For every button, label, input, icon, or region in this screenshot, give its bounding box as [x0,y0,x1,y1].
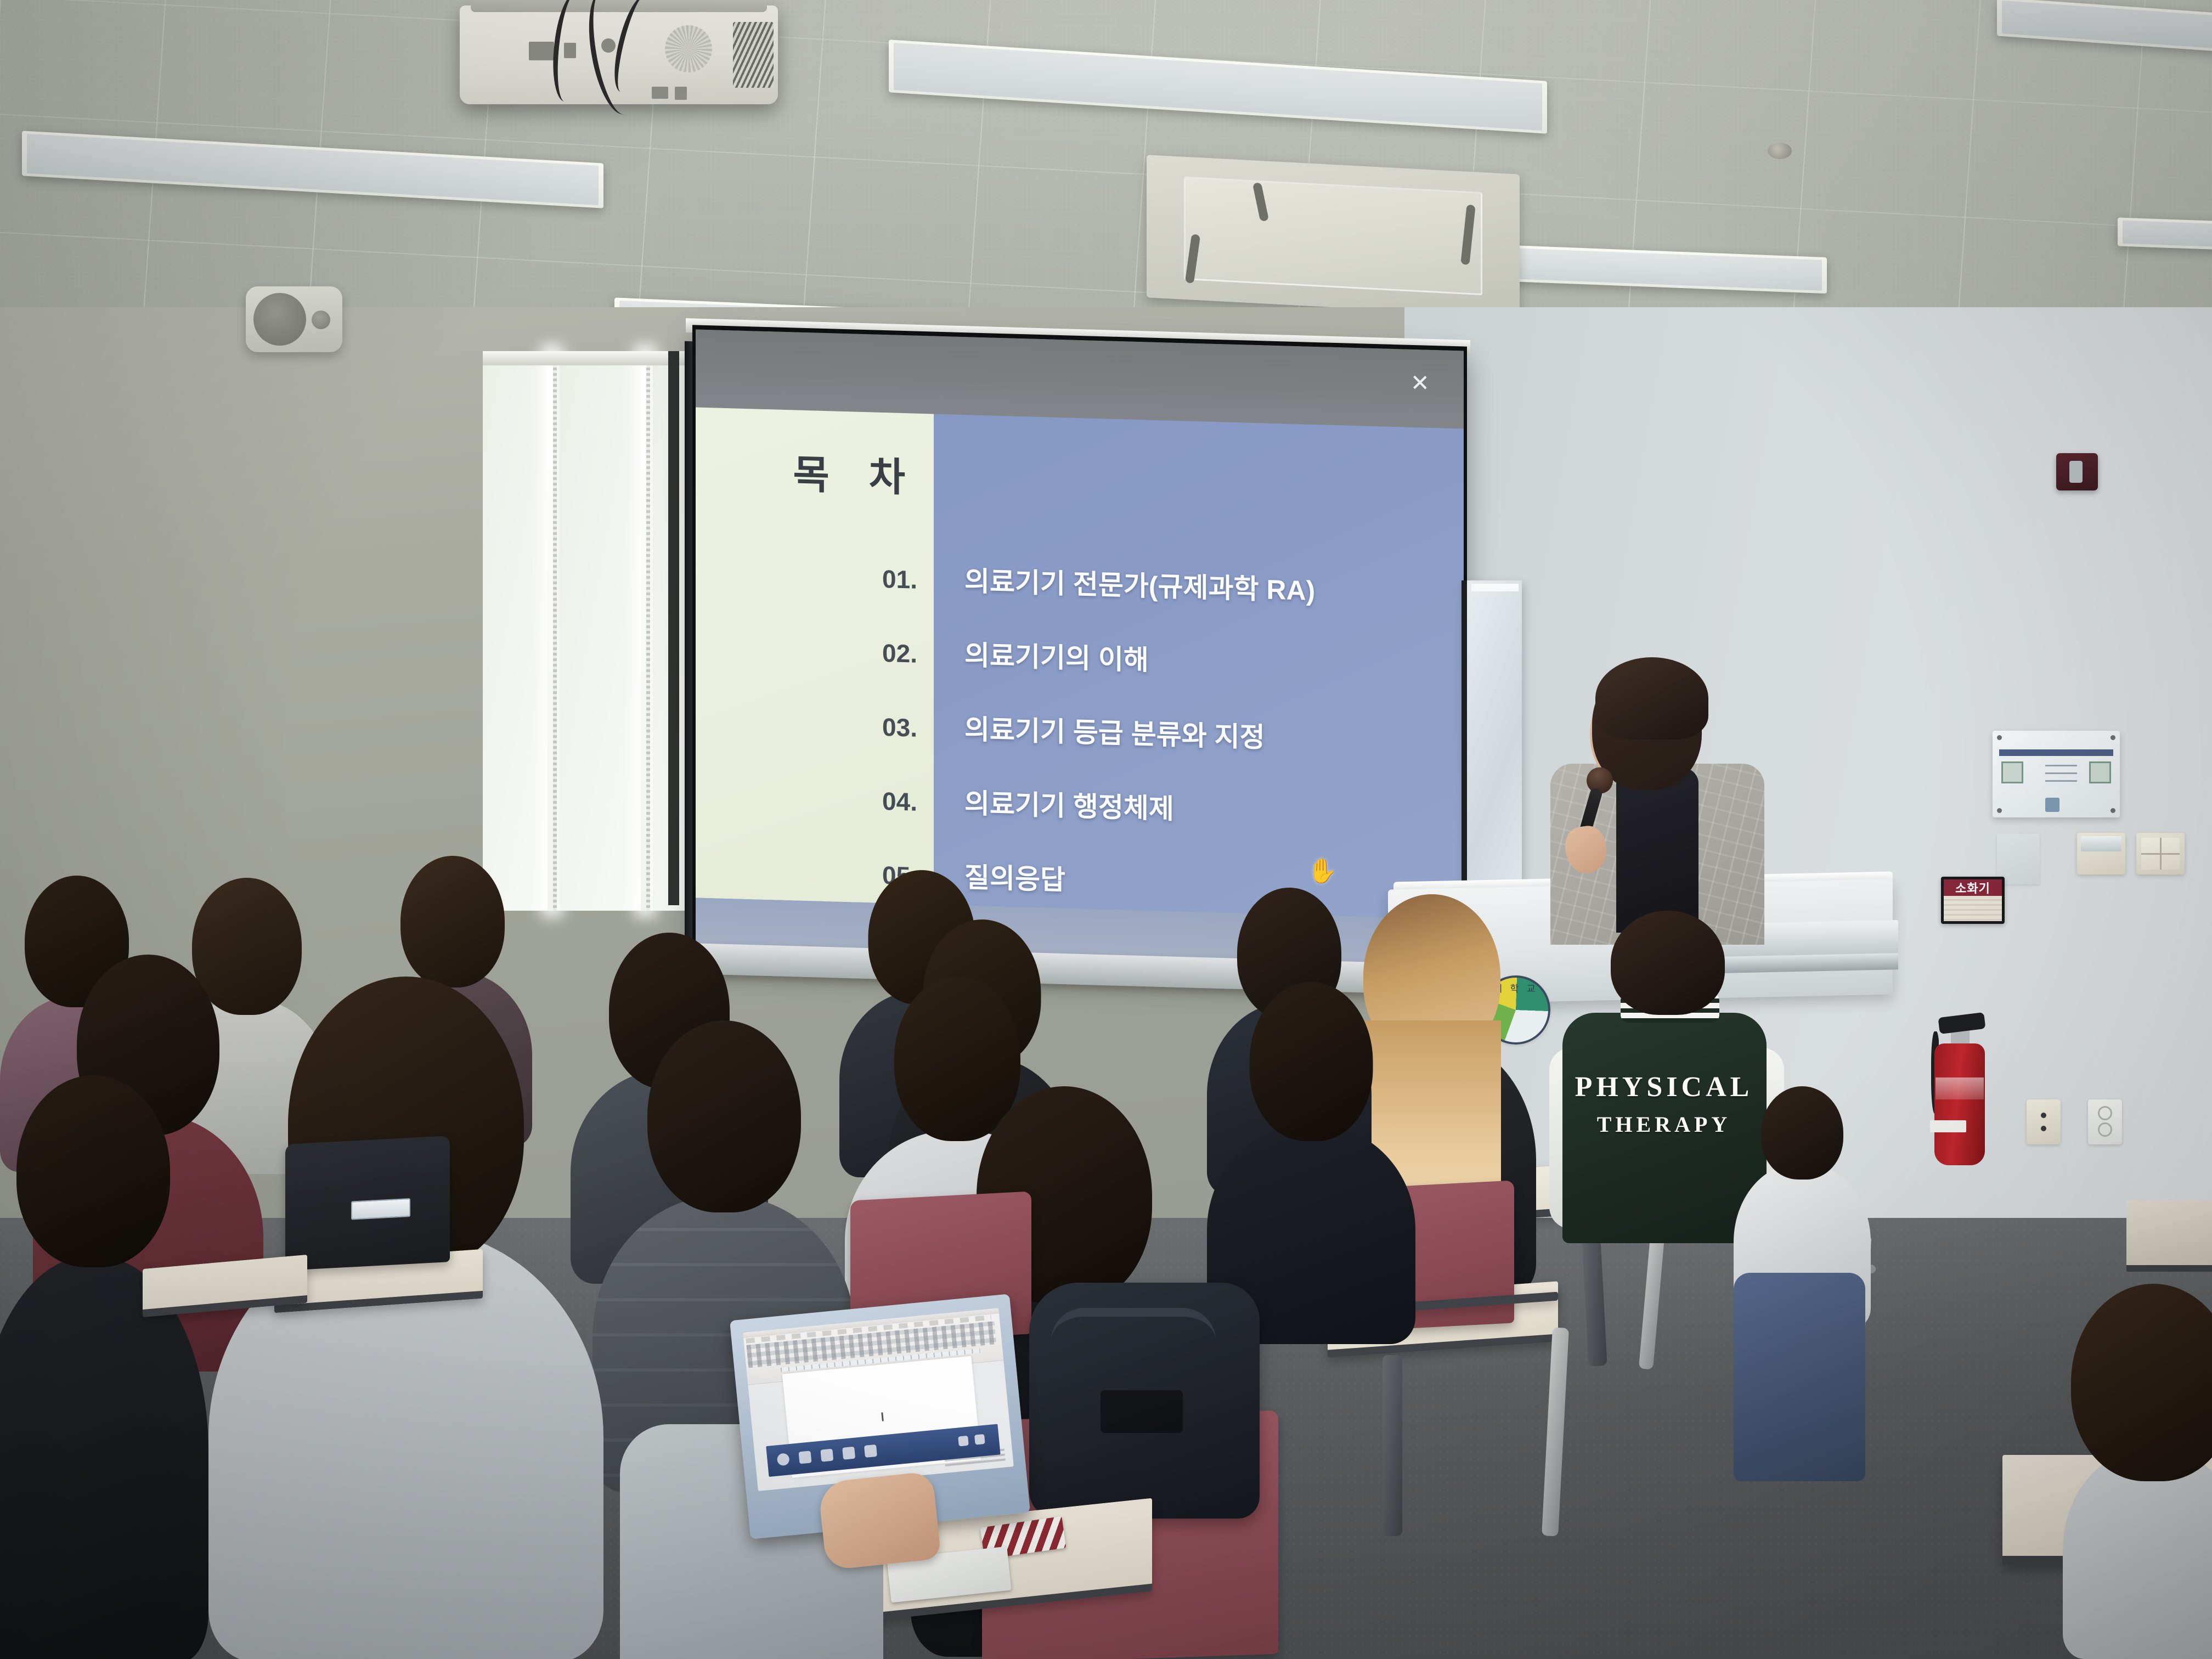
backpack [1029,1283,1260,1519]
slide-item-number: 01. [819,540,917,617]
slide-sidebar: 목 차 01. 02. 03. 04. 05. [696,407,934,904]
ac-diffuser [1147,155,1520,317]
blind-chain [646,351,650,911]
student-right-edge [2063,1284,2212,1659]
wall-outlet[interactable] [2088,1099,2122,1144]
roller-blind [560,351,642,911]
student-torso [0,1256,208,1659]
extinguisher-label [1936,1077,1984,1099]
slide-content: 목 차 01. 02. 03. 04. 05. 의료기기 전문가(규제과학 RA… [696,407,1464,919]
slide-item-number: 04. [819,763,917,839]
placard-header-bar [1999,749,2113,756]
backpack-pocket [1101,1390,1183,1433]
student-jeans [1734,1273,1865,1481]
whiteboard [1462,580,1522,910]
slide-item-number: 02. [819,614,917,691]
blind-chain [553,351,557,911]
student [0,1075,208,1659]
extinguisher-body [1934,1043,1985,1165]
backpack-strap [1051,1308,1216,1374]
taskbar-icon[interactable] [864,1444,877,1458]
instruction-placard [1993,731,2120,817]
presenter-hair [1595,657,1708,740]
slide-agenda-item: 의료기기 행정체제 [934,766,1464,855]
placard-footer-icon [2045,798,2059,812]
student-jeans-legs [1734,1273,1865,1481]
projection-screen-surface: ✕ 목 차 01. 02. 03. 04. 05. 의료기기 전문가(규제과학 … [696,329,1464,979]
projector-port [675,87,687,100]
presenter-shirt [1616,768,1699,933]
placard-text-line [2045,780,2077,782]
thermostat-panel[interactable] [2077,833,2125,874]
placard-text-line [2045,772,2077,774]
student-hair [1611,911,1725,1015]
extinguisher-tag [1930,1120,1966,1132]
fire-extinguisher-sign-label: 소화기 [1944,879,2002,896]
slide-agenda-item: 의료기기의 이해 [934,618,1464,707]
placard-diagram-right [2089,761,2111,783]
lecture-chair [285,1136,450,1271]
roller-blind [483,351,549,911]
taskbar-icon[interactable] [842,1447,855,1460]
system-tray-icon[interactable] [958,1436,969,1447]
fire-alarm-box[interactable] [2056,453,2098,490]
outlet-hole [2041,1113,2046,1118]
student-head [1250,982,1373,1141]
tablet-arm-desk [2126,1200,2212,1272]
outlet-socket [2098,1106,2112,1120]
laptop-screen[interactable] [743,1308,1014,1491]
placard-screw [1997,808,2002,813]
taskbar-icon[interactable] [777,1453,790,1466]
student-head [16,1075,170,1267]
extinguisher-handle [1938,1012,1985,1034]
placard-screw [1997,735,2002,740]
projector-port [529,42,554,60]
outlet-hole [2041,1126,2046,1131]
light-switch-panel[interactable] [2136,833,2185,874]
outlet-socket [2098,1122,2112,1137]
projector-port [652,87,668,99]
ceiling-light-6 [2118,218,2212,250]
chair-label [351,1198,410,1220]
projector-fan-icon [665,25,712,72]
placard-screw [2111,735,2115,740]
ac-diffuser-inner [1184,177,1482,295]
slide-title: 목 차 [793,442,919,503]
student-head [1761,1086,1843,1180]
taskbar-icon[interactable] [799,1451,812,1464]
chair-leg [1383,1355,1402,1536]
projection-screen: ✕ 목 차 01. 02. 03. 04. 05. 의료기기 전문가(규제과학 … [692,325,1467,983]
slide-agenda-item: 의료기기 등급 분류와 지정 [934,692,1464,781]
wall-outlet[interactable] [2027,1099,2061,1144]
slide-agenda-list: 의료기기 전문가(규제과학 RA) 의료기기의 이해 의료기기 등급 분류와 지… [934,414,1464,919]
student-foreground [208,977,603,1659]
slide-item-number: 03. [819,689,917,765]
projector-vent-icon [733,22,774,88]
student-head [400,856,505,988]
close-icon: ✕ [1410,371,1430,395]
placard-screw [2111,808,2115,813]
student-head [647,1020,801,1212]
placard-text-line [2045,765,2077,766]
system-tray-icon[interactable] [974,1434,985,1445]
taskbar-icon[interactable] [820,1449,833,1462]
hand-cursor-icon: ✋ [1307,859,1338,884]
slide-agenda-item: 의료기기 전문가(규제과학 RA) [934,544,1464,633]
wall-speaker [246,286,342,352]
fire-extinguisher[interactable] [1927,1013,1993,1172]
lecture-hall-scene: ✕ 목 차 01. 02. 03. 04. 05. 의료기기 전문가(규제과학 … [0,0,2212,1659]
slide-number-column: 01. 02. 03. 04. 05. [819,540,917,913]
window-frame-edge [668,351,679,905]
placard-diagram-left [2001,761,2023,783]
student-head [2071,1284,2212,1481]
student-hand [817,1471,941,1570]
sprinkler-head [1768,143,1792,159]
text-caret [881,1413,884,1421]
fire-extinguisher-sign-diagram [1944,896,2002,921]
fire-extinguisher-sign: 소화기 [1941,877,2005,924]
